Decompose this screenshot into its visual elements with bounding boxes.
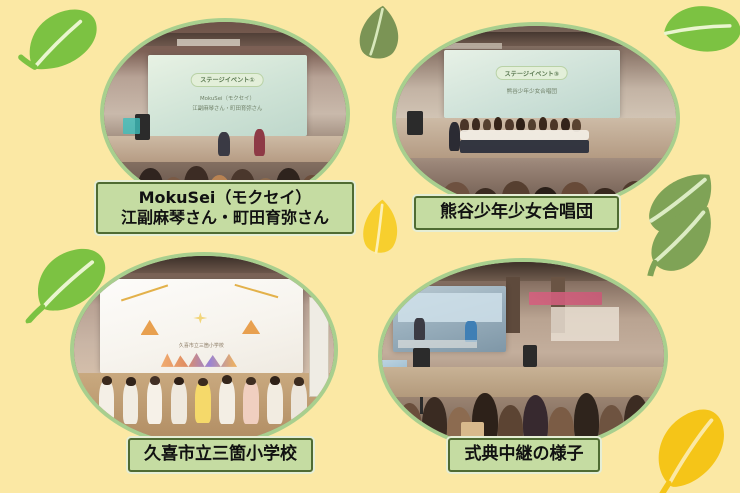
projection-screen: 久喜市立三箇小学校: [100, 279, 303, 373]
photo-collage-poster: ステージイベント① MokuSei（モクセイ） 江副麻琴さん・町田育弥さん: [0, 0, 740, 493]
caption-kumagaya-chorus: 熊谷少年少女合唱団: [414, 196, 619, 230]
projection-screen: [393, 286, 506, 352]
caption-ceremony-broadcast: 式典中継の様子: [448, 438, 600, 472]
caption-sanga-elementary: 久喜市立三箇小学校: [128, 438, 313, 472]
screen-subtitle-line-1: MokuSei（モクセイ）: [200, 94, 255, 102]
caption-line: 江副麻琴さん・町田育弥さん: [108, 208, 342, 228]
screen-title: ステージイベント③: [495, 66, 568, 80]
caption-line: 久喜市立三箇小学校: [140, 444, 301, 465]
screen-subtitle-line-2: 江副麻琴さん・町田育弥さん: [192, 104, 262, 112]
screen-subtitle-line-1: 熊谷少年少女合唱団: [507, 87, 557, 95]
projection-screen: ステージイベント③ 熊谷少年少女合唱団: [444, 50, 620, 118]
caption-line: 式典中継の様子: [460, 444, 588, 465]
photo-card-sanga-elementary: 久喜市立三箇小学校: [70, 252, 338, 448]
photo-card-ceremony-broadcast: [378, 258, 668, 454]
leaf-top-left-icon: [7, 0, 112, 82]
screen-title: ステージイベント①: [191, 73, 264, 87]
screen-subtitle-line-1: 久喜市立三箇小学校: [179, 342, 224, 349]
caption-mokusei: MokuSei（モクセイ） 江副麻琴さん・町田育弥さん: [96, 182, 354, 234]
caption-line: MokuSei（モクセイ）: [108, 188, 342, 208]
photo-card-kumagaya-chorus: ステージイベント③ 熊谷少年少女合唱団: [392, 22, 680, 214]
photo-image-sanga-elementary: 久喜市立三箇小学校: [70, 252, 338, 448]
photo-image-kumagaya-chorus: ステージイベント③ 熊谷少年少女合唱団: [392, 22, 680, 214]
photo-image-ceremony-broadcast: [378, 258, 668, 454]
projection-screen: ステージイベント① MokuSei（モクセイ） 江副麻琴さん・町田育弥さん: [148, 55, 308, 136]
caption-line: 熊谷少年少女合唱団: [426, 202, 607, 223]
